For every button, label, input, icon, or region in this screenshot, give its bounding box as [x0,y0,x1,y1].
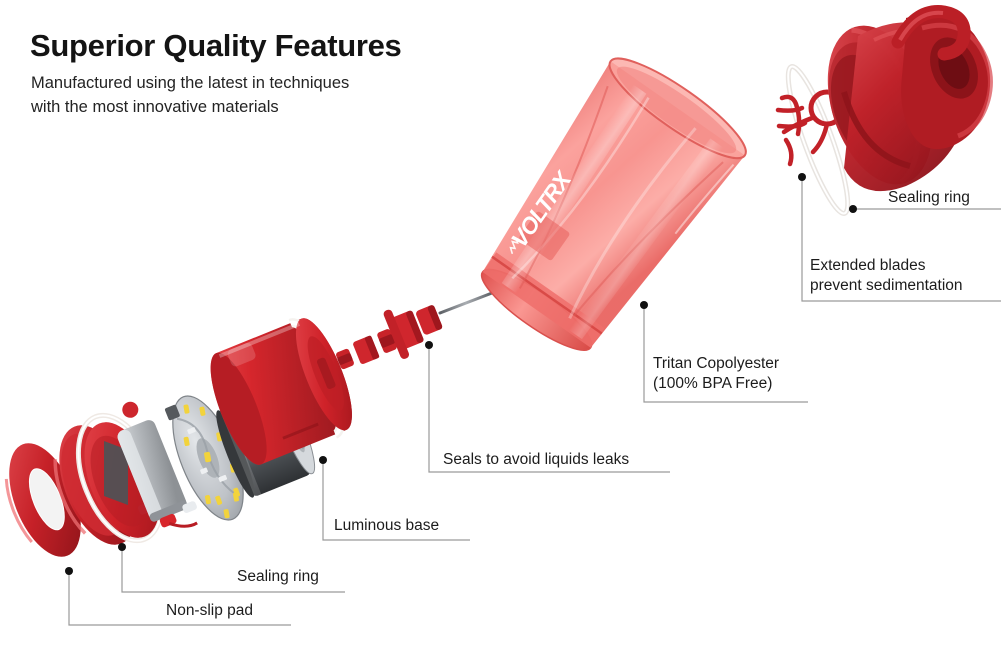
leader-dot-tritan-copolyester [640,301,648,309]
leader-dot-sealing-ring-base [118,543,126,551]
infographic-page: VOLTRX [0,0,1001,662]
leader-dot-luminous-base [319,456,327,464]
callout-label-extended-blades: Extended blades prevent sedimentation [810,256,963,297]
callout-label-tritan-copolyester: Tritan Copolyester (100% BPA Free) [653,354,779,395]
callout-label-non-slip-pad: Non-slip pad [166,601,253,621]
callout-leader-lines [0,0,1001,662]
leader-dot-seals-liquids [425,341,433,349]
callout-label-seals-liquids: Seals to avoid liquids leaks [443,450,629,470]
leader-dot-extended-blades [798,173,806,181]
leader-dot-sealing-ring-cap [849,205,857,213]
callout-label-sealing-ring-base: Sealing ring [237,567,319,587]
callout-label-luminous-base: Luminous base [334,516,439,536]
leader-dot-non-slip-pad [65,567,73,575]
callout-label-sealing-ring-cap: Sealing ring [888,188,970,208]
